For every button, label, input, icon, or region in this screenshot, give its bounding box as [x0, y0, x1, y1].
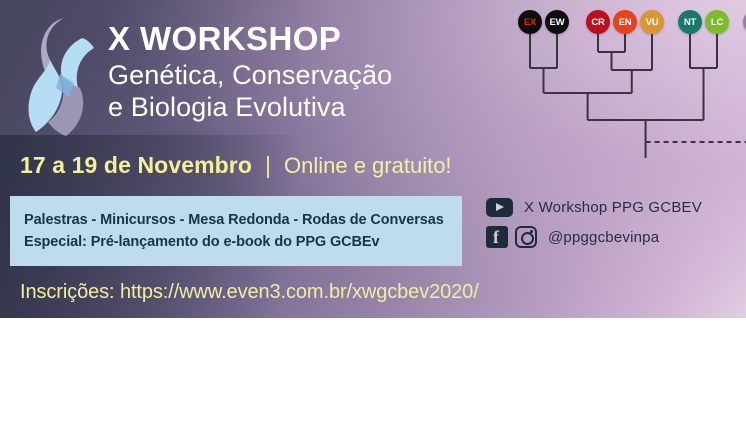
- social-row-youtube[interactable]: X Workshop PPG GCBEV: [486, 198, 702, 217]
- page-title: X WORKSHOP: [108, 22, 508, 55]
- date-separator: |: [265, 152, 271, 179]
- activities-info-box: Palestras - Minicursos - Mesa Redonda - …: [10, 196, 462, 266]
- iucn-node-ew: EW: [545, 10, 569, 34]
- subtitle-line-2: e Biologia Evolutiva: [108, 92, 508, 124]
- iucn-node-ex: EX: [518, 10, 542, 34]
- activities-line-2: Especial: Pré-lançamento do e-book do PP…: [24, 231, 462, 253]
- iucn-node-lc: LC: [705, 10, 729, 34]
- activities-line-1: Palestras - Minicursos - Mesa Redonda - …: [24, 209, 462, 231]
- event-modality: Online e gratuito!: [284, 153, 452, 179]
- youtube-icon[interactable]: [486, 198, 513, 217]
- instagram-icon[interactable]: [515, 226, 537, 248]
- registration-link[interactable]: Inscrições: https://www.even3.com.br/xwg…: [20, 281, 479, 304]
- iucn-node-en: EN: [613, 10, 637, 34]
- social-handle: @ppggcbevinpa: [548, 229, 659, 246]
- event-date: 17 a 19 de Novembro: [20, 152, 252, 179]
- footer-logos-bar: PROGRAMA DE PÓS-GRADUAÇÃO PPG GCBEv GENÉ…: [0, 318, 746, 423]
- iucn-node-nt: NT: [678, 10, 702, 34]
- instagram-dot: [530, 230, 533, 233]
- event-poster: X WORKSHOP Genética, Conservação e Biolo…: [0, 0, 746, 423]
- iucn-cladogram: EXEWCRENVUNTLCDD: [500, 8, 746, 160]
- facebook-icon[interactable]: [486, 226, 508, 248]
- title-block: X WORKSHOP Genética, Conservação e Biolo…: [108, 22, 508, 124]
- social-block: X Workshop PPG GCBEV @ppggcbevinpa: [486, 198, 702, 257]
- subtitle-line-1: Genética, Conservação: [108, 60, 508, 92]
- iucn-node-cr: CR: [586, 10, 610, 34]
- instagram-lens: [521, 232, 534, 245]
- iucn-node-vu: VU: [640, 10, 664, 34]
- social-row-handles[interactable]: @ppggcbevinpa: [486, 226, 702, 248]
- youtube-channel-name: X Workshop PPG GCBEV: [524, 199, 702, 216]
- dna-ribbon-logo-icon: [22, 14, 100, 140]
- date-row: 17 a 19 de Novembro | Online e gratuito!: [20, 152, 452, 179]
